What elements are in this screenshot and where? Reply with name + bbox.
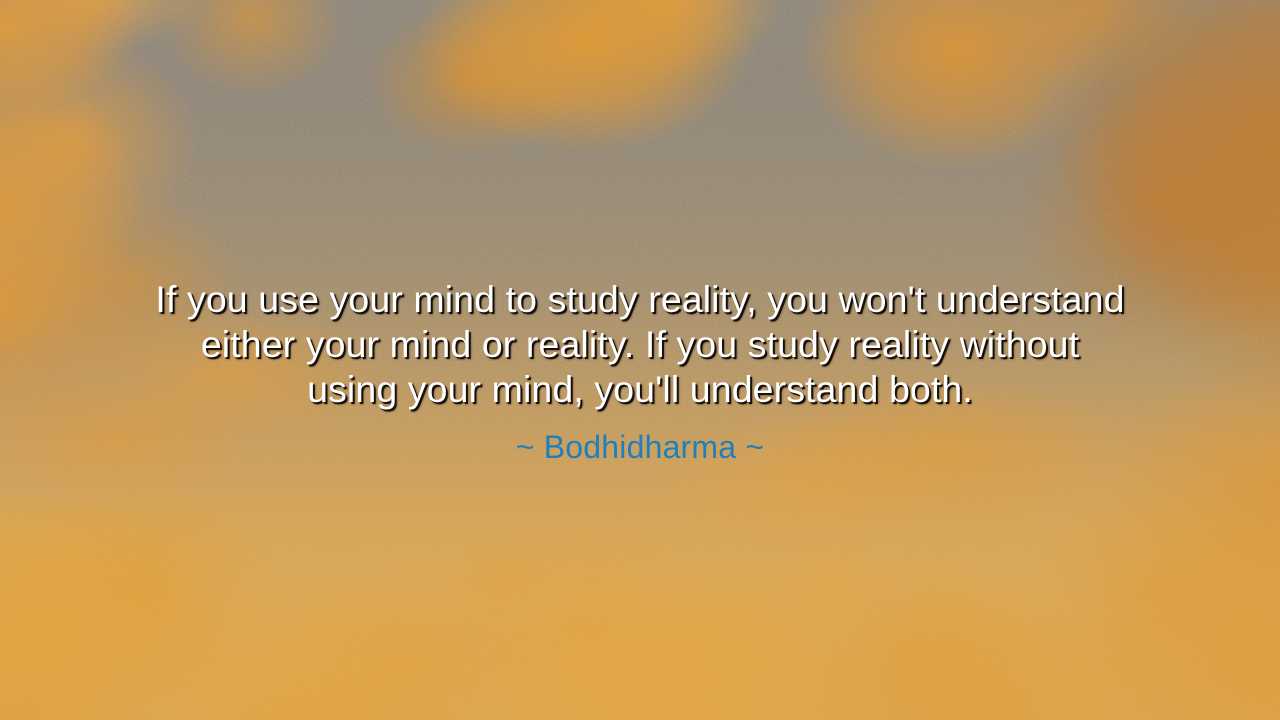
quote-attribution: ~ Bodhidharma ~ bbox=[0, 412, 1280, 466]
quote-text: If you use your mind to study reality, y… bbox=[0, 277, 1280, 412]
wallpaper-canvas: If you use your mind to study reality, y… bbox=[0, 0, 1280, 720]
quote-block: If you use your mind to study reality, y… bbox=[0, 277, 1280, 466]
